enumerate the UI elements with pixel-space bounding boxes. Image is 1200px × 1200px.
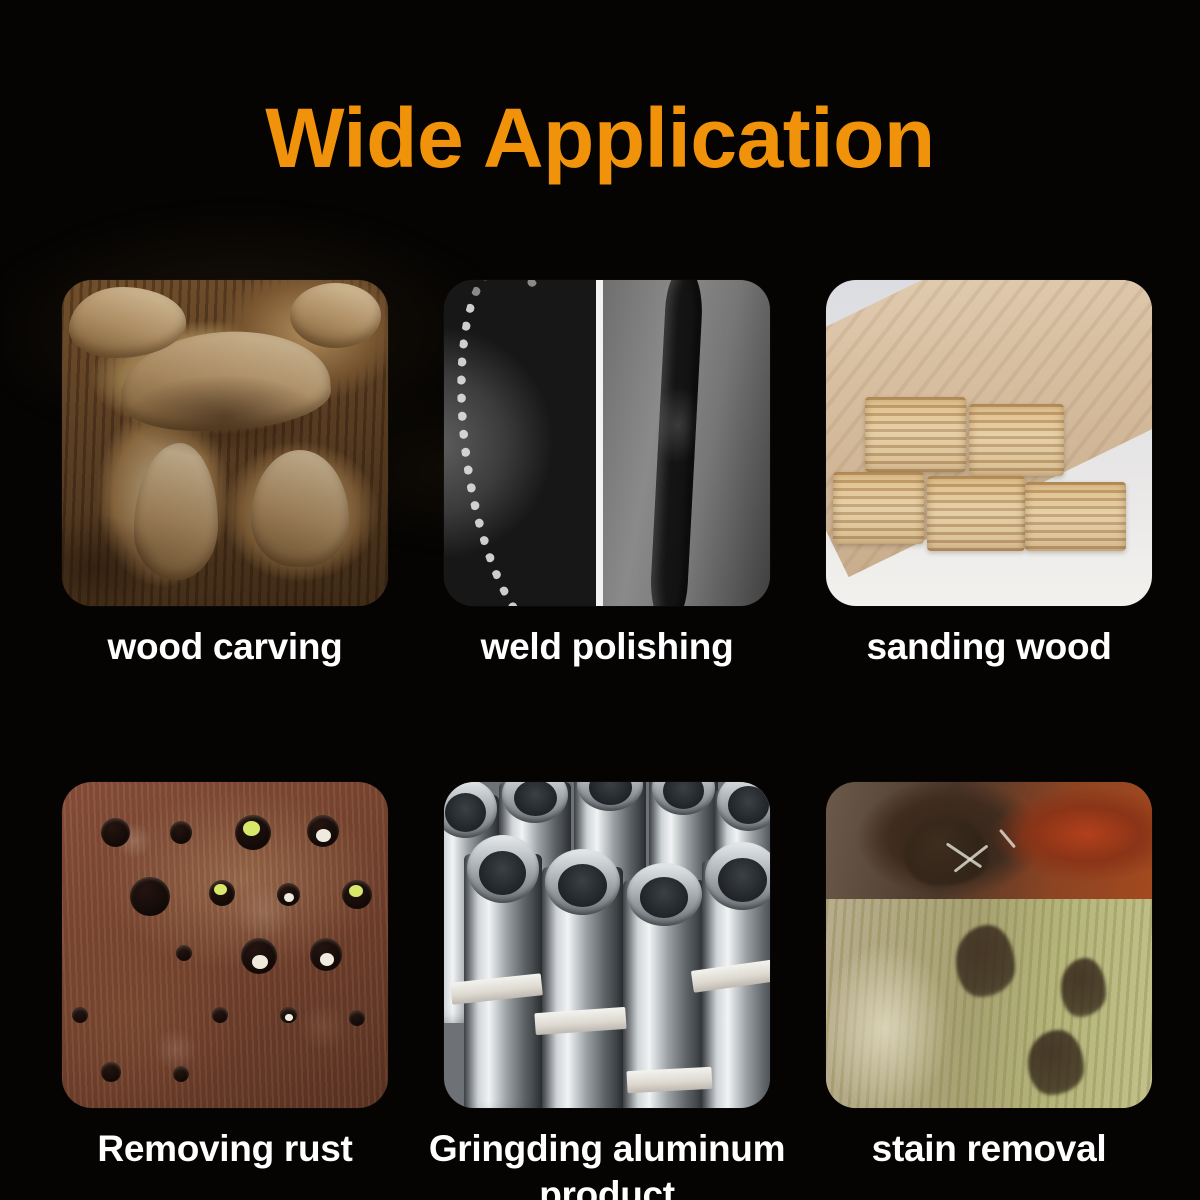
removing-rust-image[interactable] <box>62 782 388 1108</box>
aluminium-roll-front <box>542 867 624 1108</box>
caption-removing-rust: Removing rust <box>45 1126 405 1172</box>
plate-hole <box>130 877 169 916</box>
plate-hole <box>170 821 193 844</box>
plate-hole <box>280 1007 296 1023</box>
grid-cell-wood-carving[interactable]: wood carving <box>62 280 388 670</box>
plate-hole <box>235 815 271 851</box>
application-grid: wood carving weld polishing <box>62 280 1152 1200</box>
poster-canvas: Wide Application wood carving <box>0 0 1200 1200</box>
grid-cell-removing-rust[interactable]: Removing rust <box>62 782 388 1200</box>
grid-cell-stain-removal[interactable]: stain removal <box>826 782 1152 1200</box>
plate-hole <box>209 880 235 906</box>
plate-hole <box>310 938 343 971</box>
stain-blot <box>956 925 1015 997</box>
grid-cell-weld-polishing[interactable]: weld polishing <box>444 280 770 670</box>
roll-strap <box>626 1067 712 1093</box>
plate-hole <box>173 1066 189 1082</box>
stain-rust-band <box>826 782 1152 906</box>
caption-sanding-wood: sanding wood <box>809 624 1169 670</box>
stain-removal-image[interactable] <box>826 782 1152 1108</box>
wood-carving-shading <box>62 280 388 606</box>
plate-hole <box>277 883 300 906</box>
page-title: Wide Application <box>0 92 1200 184</box>
stain-blot <box>1028 1030 1083 1095</box>
timber-billet-bottom-left <box>833 472 924 544</box>
weld-polishing-image[interactable] <box>444 280 770 606</box>
caption-wood-carving: wood carving <box>45 624 405 670</box>
weld-bead-icon <box>444 280 620 606</box>
timber-billet-bottom-right <box>1025 482 1126 550</box>
roll-bore <box>718 858 767 902</box>
roll-bore <box>728 786 769 824</box>
grid-row-2: Removing rust <box>62 782 1152 1200</box>
grinding-aluminum-image[interactable] <box>444 782 770 1108</box>
stain-blot <box>1061 958 1107 1017</box>
timber-billet-top-left <box>865 397 966 472</box>
roll-bore <box>445 793 486 832</box>
caption-weld-polishing: weld polishing <box>427 624 787 670</box>
caption-stain-removal: stain removal <box>809 1126 1169 1172</box>
weld-split-divider <box>596 280 603 606</box>
plate-hole <box>101 1062 121 1082</box>
weld-seam-shape <box>649 280 705 606</box>
caption-grinding-aluminum: Gringding aluminum product <box>392 1126 822 1200</box>
grid-cell-sanding-wood[interactable]: sanding wood <box>826 280 1152 670</box>
plate-hole <box>307 815 340 848</box>
timber-billet-bottom-mid <box>927 476 1025 551</box>
timber-billet-top-right <box>969 404 1064 476</box>
weld-before-panel <box>444 280 597 606</box>
weld-after-panel <box>600 280 770 606</box>
wood-carving-image[interactable] <box>62 280 388 606</box>
plate-hole <box>342 880 371 909</box>
grid-cell-grinding-aluminum[interactable]: Gringding aluminum product <box>444 782 770 1200</box>
grid-row-1: wood carving weld polishing <box>62 280 1152 670</box>
sanding-wood-image[interactable] <box>826 280 1152 606</box>
